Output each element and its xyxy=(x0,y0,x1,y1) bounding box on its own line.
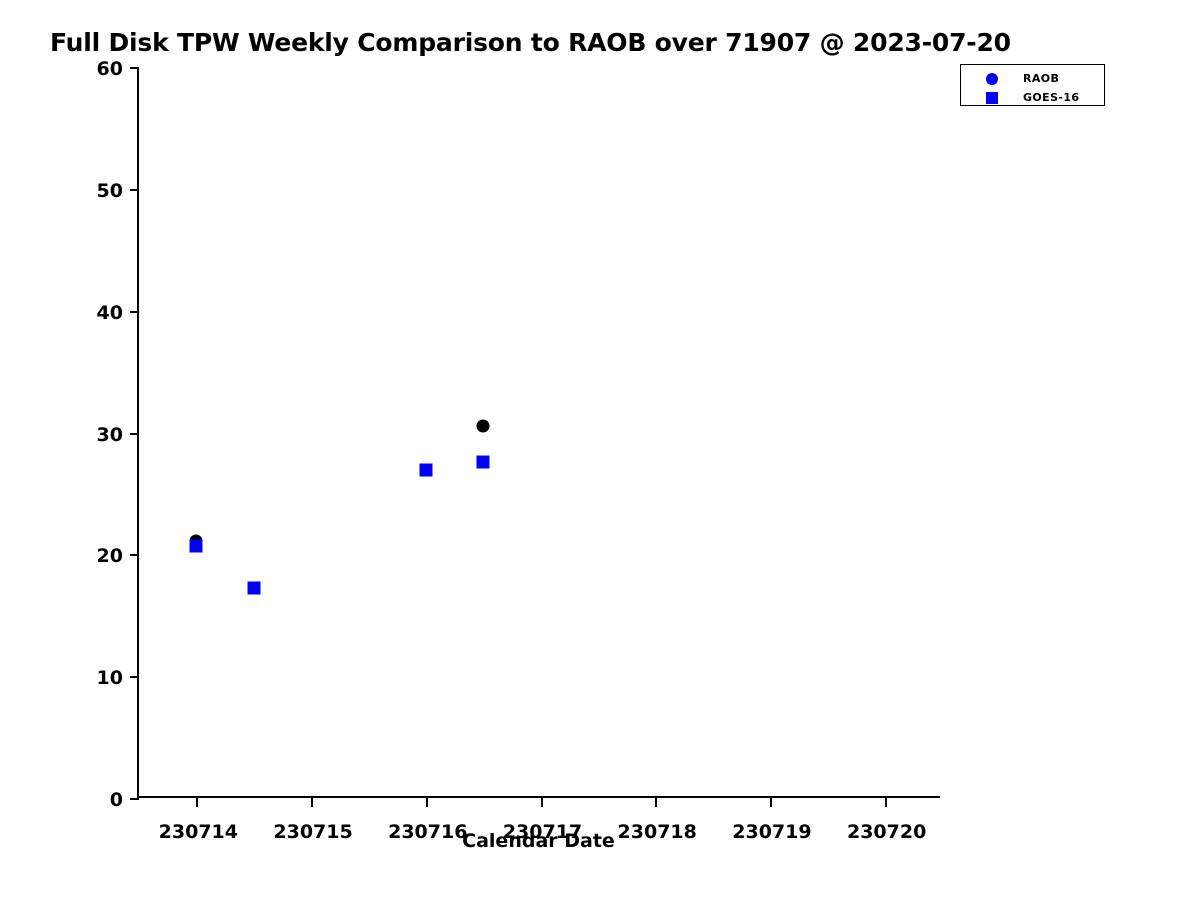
y-tick: 60 xyxy=(130,67,139,69)
plot-area: 0102030405060 23071423071523071623071723… xyxy=(137,67,940,798)
y-tick-label: 40 xyxy=(97,302,123,324)
x-tick: 230717 xyxy=(541,796,543,807)
legend-label: RAOB xyxy=(1023,72,1059,85)
x-axis-label: Calendar Date xyxy=(137,830,940,852)
y-tick: 50 xyxy=(130,189,139,191)
legend-item-raob[interactable]: RAOB xyxy=(961,69,1104,88)
y-tick: 40 xyxy=(130,311,139,313)
y-tick-label: 20 xyxy=(97,545,123,567)
x-tick: 230718 xyxy=(655,796,657,807)
y-tick-label: 0 xyxy=(110,789,123,811)
y-tick-label: 50 xyxy=(97,180,123,202)
y-tick: 0 xyxy=(130,798,139,800)
square-marker-icon xyxy=(986,92,998,104)
data-point-goes-16 xyxy=(419,464,432,477)
x-tick: 230714 xyxy=(196,796,198,807)
x-tick: 230716 xyxy=(426,796,428,807)
y-tick: 10 xyxy=(130,676,139,678)
y-tick: 30 xyxy=(130,433,139,435)
x-tick: 230719 xyxy=(770,796,772,807)
y-tick: 20 xyxy=(130,554,139,556)
y-tick-label: 60 xyxy=(97,58,123,80)
y-tick-label: 10 xyxy=(97,667,123,689)
data-point-goes-16 xyxy=(477,455,490,468)
chart-figure: Full Disk TPW Weekly Comparison to RAOB … xyxy=(0,0,1200,900)
legend-marker-cell xyxy=(961,92,1023,104)
x-tick: 230715 xyxy=(311,796,313,807)
y-tick-label: 30 xyxy=(97,424,123,446)
page-title: Full Disk TPW Weekly Comparison to RAOB … xyxy=(50,28,1011,57)
chart-legend: RAOBGOES-16 xyxy=(960,64,1105,106)
legend-marker-cell xyxy=(961,73,1023,85)
data-point-raob xyxy=(477,420,490,433)
data-point-goes-16 xyxy=(190,539,203,552)
data-point-goes-16 xyxy=(247,582,260,595)
x-tick: 230720 xyxy=(885,796,887,807)
legend-label: GOES-16 xyxy=(1023,91,1080,104)
legend-item-goes-16[interactable]: GOES-16 xyxy=(961,88,1104,107)
circle-marker-icon xyxy=(986,73,998,85)
